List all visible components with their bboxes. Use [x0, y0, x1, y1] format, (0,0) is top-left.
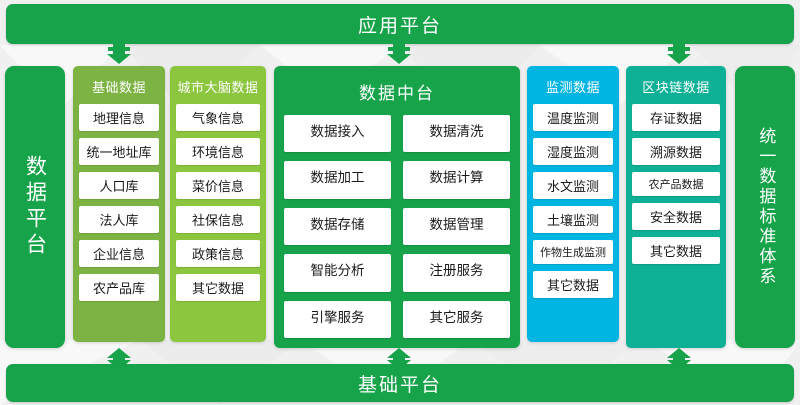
- column-basic-data: 基础数据 地理信息 统一地址库 人口库 法人库 企业信息 农产品库: [73, 66, 165, 342]
- list-item[interactable]: 溯源数据: [632, 138, 720, 165]
- left-panel-label: 数据平台: [23, 155, 46, 259]
- list-item[interactable]: 注册服务: [403, 254, 510, 291]
- list-item[interactable]: 地理信息: [79, 104, 159, 131]
- list-item[interactable]: 其它数据: [533, 271, 613, 298]
- list-item[interactable]: 企业信息: [79, 240, 159, 267]
- column-items-blockchain-data: 存证数据 溯源数据 农产品数据 安全数据 其它数据: [632, 104, 720, 340]
- list-item[interactable]: 数据清洗: [403, 115, 510, 152]
- list-item[interactable]: 农产品库: [79, 274, 159, 301]
- arrow-down-center: [384, 42, 414, 64]
- list-item[interactable]: 土壤监测: [533, 206, 613, 233]
- column-title-blockchain-data: 区块链数据: [632, 72, 720, 104]
- list-item[interactable]: 政策信息: [176, 240, 260, 267]
- list-item[interactable]: 数据存储: [284, 208, 391, 245]
- right-panel-unified-data-standard: 统一数据标准体系: [735, 66, 795, 348]
- list-item[interactable]: 其它数据: [632, 237, 720, 264]
- right-panel-label: 统一数据标准体系: [756, 127, 775, 287]
- top-banner: 应用平台: [6, 4, 794, 44]
- list-item[interactable]: 其它服务: [403, 301, 510, 338]
- arrow-down-right: [664, 42, 694, 64]
- left-panel-data-platform: 数据平台: [5, 66, 65, 348]
- diagram-canvas: 应用平台 数据平台 基础数据 地理信息 统一地址库 人口库 法人库 企业信息 农…: [0, 0, 800, 405]
- column-monitoring-data: 监测数据 温度监测 湿度监测 水文监测 土壤监测 作物生成监测 其它数据: [527, 66, 619, 342]
- column-items-monitoring-data: 温度监测 湿度监测 水文监测 土壤监测 作物生成监测 其它数据: [533, 104, 613, 334]
- column-title-city-brain-data: 城市大脑数据: [176, 72, 260, 104]
- list-item[interactable]: 人口库: [79, 172, 159, 199]
- center-panel-title: 数据中台: [284, 72, 510, 115]
- top-banner-label: 应用平台: [358, 11, 442, 38]
- list-item[interactable]: 数据管理: [403, 208, 510, 245]
- center-panel-data-middle-platform: 数据中台 数据接入 数据清洗 数据加工 数据计算 数据存储 数据管理 智能分析 …: [274, 66, 520, 348]
- arrow-down-left: [104, 42, 134, 64]
- list-item[interactable]: 菜价信息: [176, 172, 260, 199]
- list-item[interactable]: 气象信息: [176, 104, 260, 131]
- list-item[interactable]: 安全数据: [632, 203, 720, 230]
- list-item[interactable]: 水文监测: [533, 172, 613, 199]
- column-city-brain-data: 城市大脑数据 气象信息 环境信息 菜价信息 社保信息 政策信息 其它数据: [170, 66, 266, 342]
- list-item[interactable]: 引擎服务: [284, 301, 391, 338]
- list-item[interactable]: 其它数据: [176, 274, 260, 301]
- list-item[interactable]: 社保信息: [176, 206, 260, 233]
- center-panel-items: 数据接入 数据清洗 数据加工 数据计算 数据存储 数据管理 智能分析 注册服务 …: [284, 115, 510, 338]
- bottom-banner: 基础平台: [6, 364, 794, 402]
- list-item[interactable]: 存证数据: [632, 104, 720, 131]
- list-item[interactable]: 农产品数据: [632, 172, 720, 196]
- list-item[interactable]: 法人库: [79, 206, 159, 233]
- list-item[interactable]: 湿度监测: [533, 138, 613, 165]
- column-items-basic-data: 地理信息 统一地址库 人口库 法人库 企业信息 农产品库: [79, 104, 159, 334]
- list-item[interactable]: 环境信息: [176, 138, 260, 165]
- bottom-banner-label: 基础平台: [358, 370, 442, 397]
- list-item[interactable]: 数据加工: [284, 161, 391, 198]
- column-title-basic-data: 基础数据: [79, 72, 159, 104]
- list-item[interactable]: 数据接入: [284, 115, 391, 152]
- column-blockchain-data: 区块链数据 存证数据 溯源数据 农产品数据 安全数据 其它数据: [626, 66, 726, 348]
- column-items-city-brain-data: 气象信息 环境信息 菜价信息 社保信息 政策信息 其它数据: [176, 104, 260, 334]
- list-item[interactable]: 数据计算: [403, 161, 510, 198]
- column-title-monitoring-data: 监测数据: [533, 72, 613, 104]
- list-item[interactable]: 作物生成监测: [533, 240, 613, 264]
- list-item[interactable]: 统一地址库: [79, 138, 159, 165]
- list-item[interactable]: 温度监测: [533, 104, 613, 131]
- list-item[interactable]: 智能分析: [284, 254, 391, 291]
